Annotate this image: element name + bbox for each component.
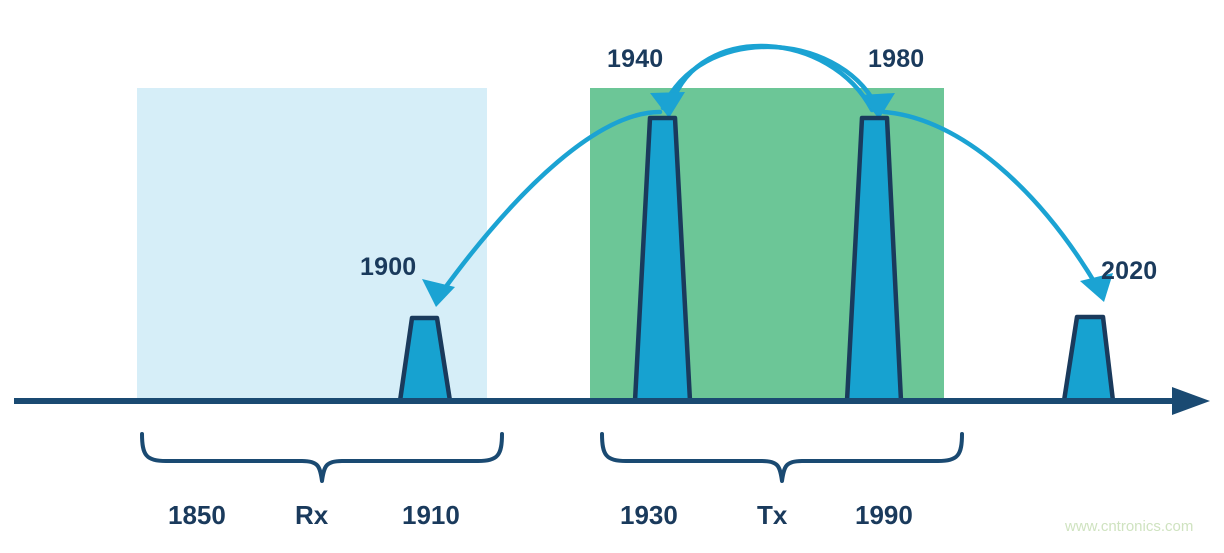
tx-brace: [602, 434, 962, 481]
tone-label-2020: 2020: [1101, 257, 1157, 286]
tone-label-1900: 1900: [360, 253, 416, 282]
tone-label-1980: 1980: [868, 45, 924, 74]
tone-label-1940: 1940: [607, 45, 663, 74]
tx-band-end-label: 1990: [855, 500, 913, 531]
rx-band-start-label: 1850: [168, 500, 226, 531]
diagram-canvas: [0, 0, 1224, 553]
rx-brace: [142, 434, 502, 481]
tx-band-start-label: 1930: [620, 500, 678, 531]
rx-band-end-label: 1910: [402, 500, 460, 531]
axis-arrowhead-icon: [1172, 387, 1210, 415]
frequency-spectrum-diagram: 1900 1940 1980 2020 1850 Rx 1910 1930 Tx…: [0, 0, 1224, 553]
tx-band-name-label: Tx: [757, 500, 787, 531]
watermark: www.cntronics.com: [1065, 518, 1193, 535]
rx-band-name-label: Rx: [295, 500, 328, 531]
tone-2020: [1064, 317, 1113, 401]
